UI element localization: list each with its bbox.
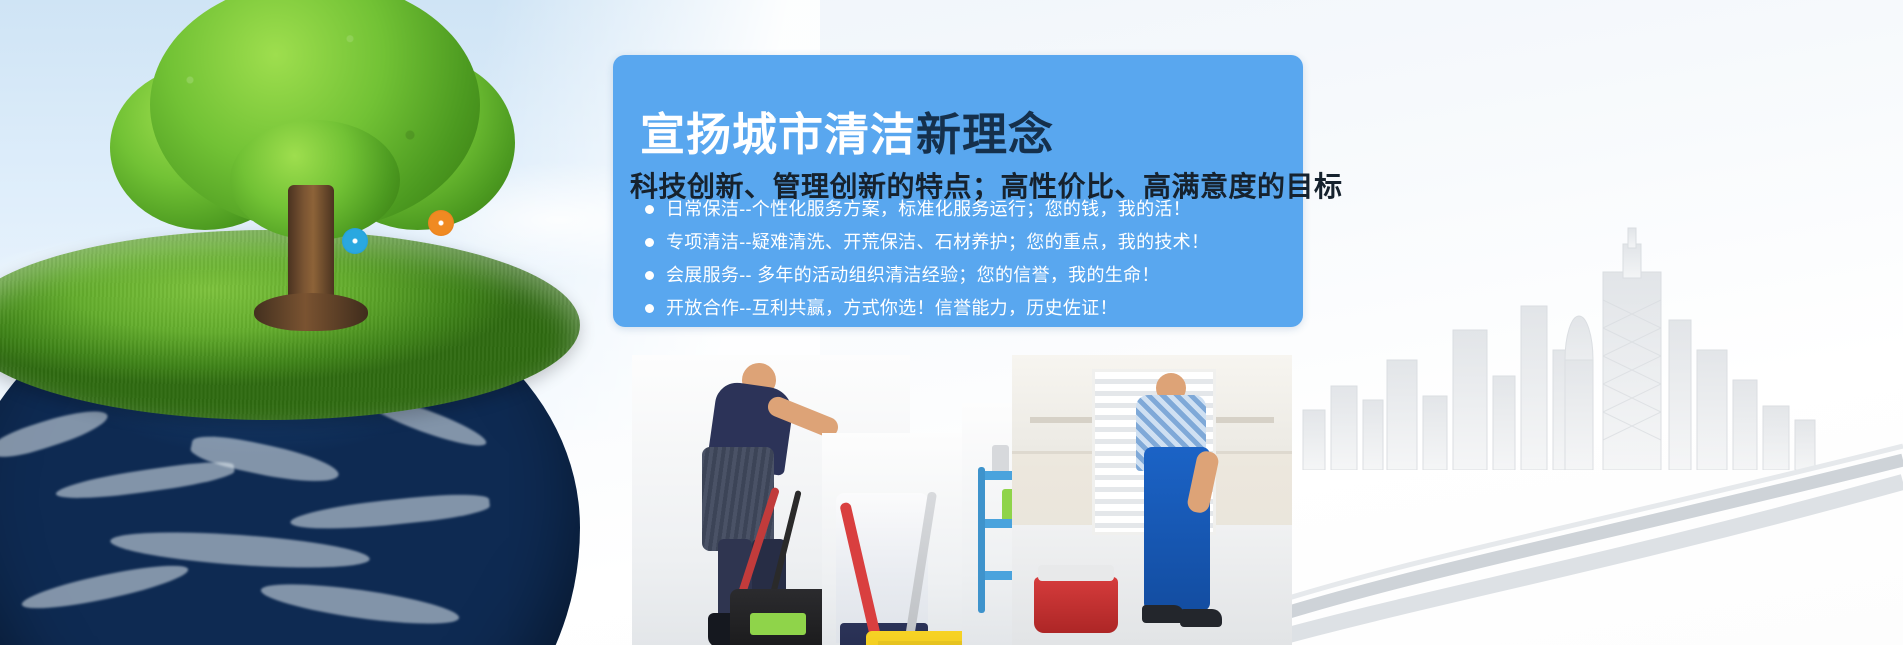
- service-bullet-list: 日常保洁--个性化服务方案，标准化服务运行；您的钱，我的活！ 专项清洁--疑难清…: [645, 194, 1305, 326]
- list-item: 专项清洁--疑难清洗、开荒保洁、石材养护；您的重点，我的技术！: [645, 227, 1305, 257]
- photo-strip: [632, 355, 1292, 645]
- curved-road-watermark: [1283, 420, 1903, 645]
- photo-kitchen-mopping-worker: [1012, 355, 1292, 645]
- yellow-mop-bucket: [866, 631, 976, 645]
- green-tree-graphic: [110, 0, 510, 330]
- tree-trunk-graphic: [288, 185, 334, 325]
- blue-pinwheel-icon: [342, 228, 368, 254]
- tree-on-earth-globe-image: [0, 270, 600, 645]
- dot-icon: [645, 205, 654, 214]
- bullet-text: 会展服务-- 多年的活动组织清洁经验；您的信誉，我的生命！: [666, 262, 1160, 288]
- dot-icon: [645, 271, 654, 280]
- headline-highlight: 宣扬城市清洁: [640, 109, 916, 160]
- dot-icon: [645, 304, 654, 313]
- orange-pinwheel-icon: [428, 210, 454, 236]
- list-item: 开放合作--互利共赢，方式你选！信誉能力，历史佐证！: [645, 293, 1305, 323]
- list-item: 会展服务-- 多年的活动组织清洁经验；您的信誉，我的生命！: [645, 260, 1305, 290]
- red-mop-bucket: [1034, 577, 1118, 633]
- page-title: 宣扬城市清洁新理念: [640, 108, 1054, 162]
- bullet-text: 专项清洁--疑难清洗、开荒保洁、石材养护；您的重点，我的技术！: [666, 229, 1209, 255]
- cleaning-service-banner: 宣扬城市清洁新理念 科技创新、管理创新的特点；高性价比、高满意度的目标 日常保洁…: [0, 0, 1903, 645]
- headline-accent: 新理念: [916, 109, 1054, 160]
- bullet-text: 日常保洁--个性化服务方案，标准化服务运行；您的钱，我的活！: [666, 196, 1191, 222]
- dot-icon: [645, 238, 654, 247]
- list-item: 日常保洁--个性化服务方案，标准化服务运行；您的钱，我的活！: [645, 194, 1305, 224]
- bullet-text: 开放合作--互利共赢，方式你选！信誉能力，历史佐证！: [666, 295, 1118, 321]
